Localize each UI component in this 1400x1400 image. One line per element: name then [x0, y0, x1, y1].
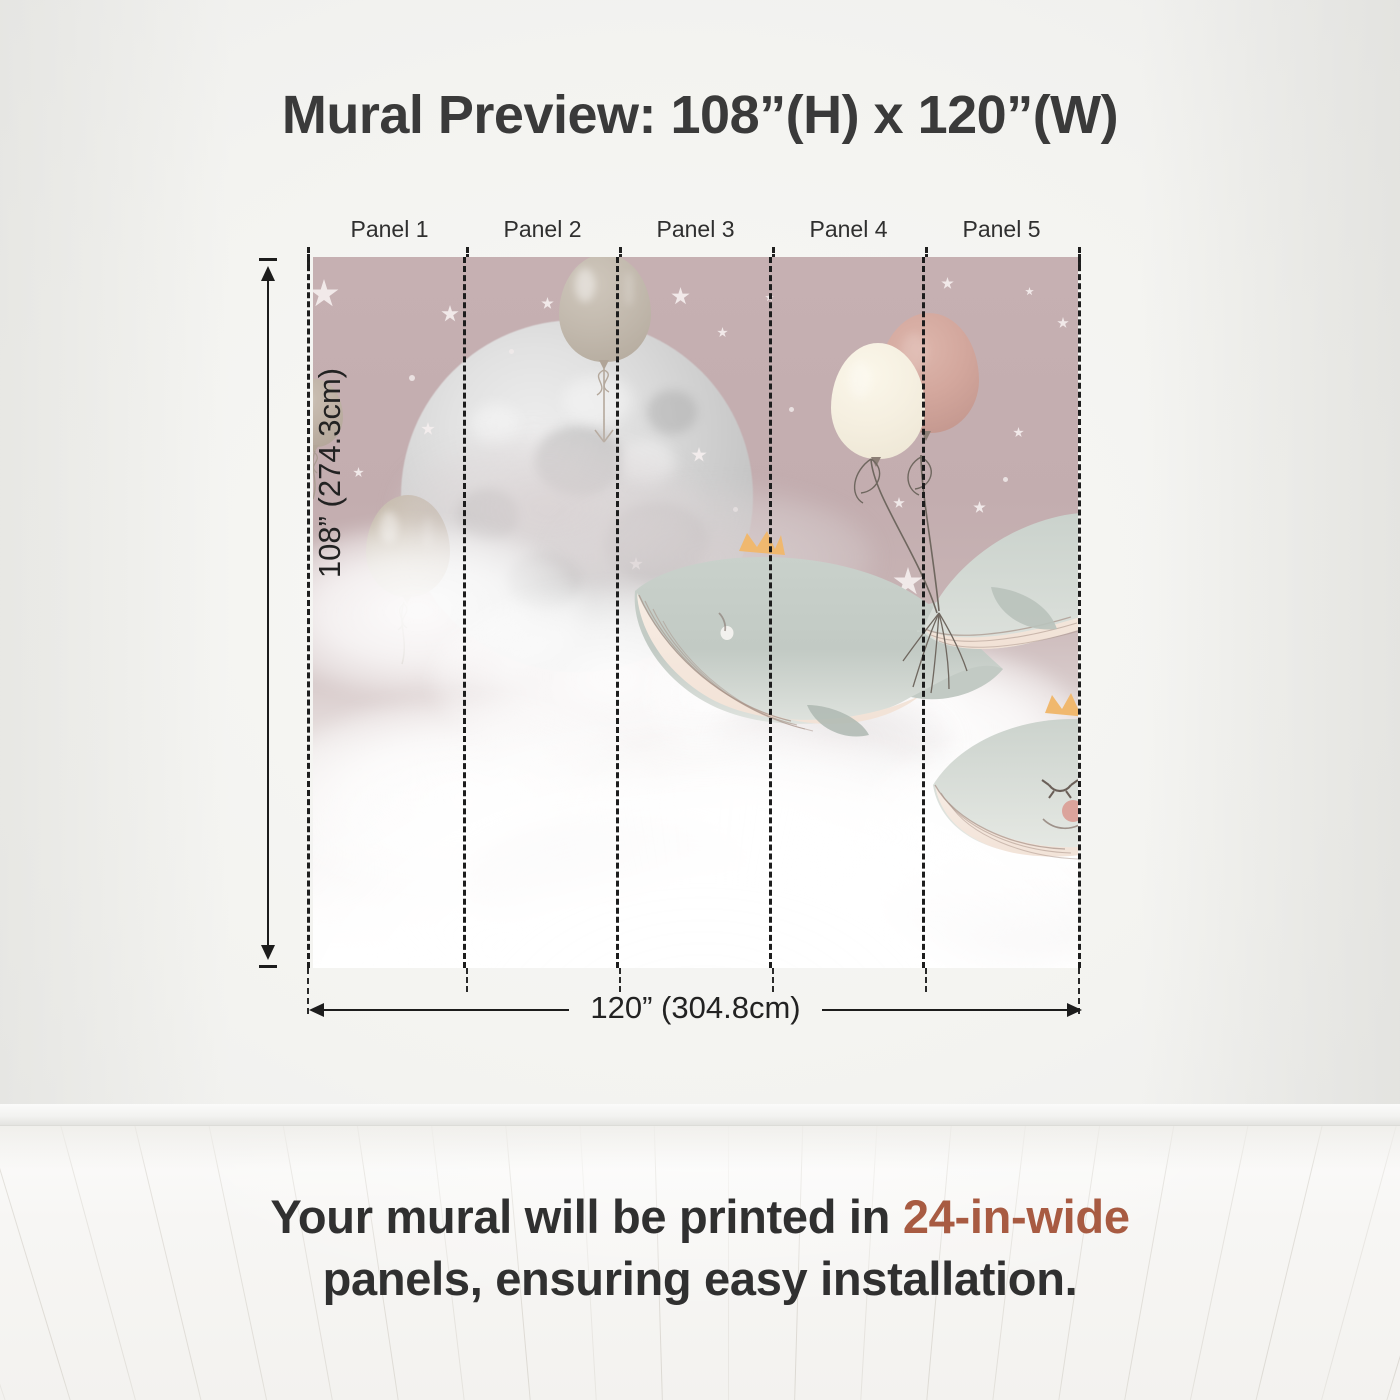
panel-divider-3: [769, 257, 772, 968]
wall-shadow-right: [1140, 0, 1400, 1122]
star-dot: [789, 407, 794, 412]
panel-label-5: Panel 5: [925, 213, 1078, 245]
panel-label-1: Panel 1: [313, 213, 466, 245]
panel-label-2: Panel 2: [466, 213, 619, 245]
width-dimension-label: 120” (304.8cm): [309, 990, 1082, 1026]
footer-caption: Your mural will be printed in 24-in-wide…: [0, 1186, 1400, 1310]
height-dimension-arrow: [258, 258, 278, 968]
star-dot: [509, 349, 514, 354]
footer-caption-accent: 24-in-wide: [903, 1190, 1130, 1243]
star-dot: [409, 375, 415, 381]
page-title: Mural Preview: 108”(H) x 120”(W): [0, 84, 1400, 146]
footer-caption-line-2: panels, ensuring easy installation.: [0, 1248, 1400, 1310]
guide-divider-4-extension: [925, 968, 927, 992]
panel-label-3: Panel 3: [619, 213, 772, 245]
width-dimension-text: 120” (304.8cm): [576, 990, 814, 1025]
star-dot: [733, 507, 738, 512]
footer-caption-text-before: Your mural will be printed in: [270, 1190, 903, 1243]
footer-caption-line-1: Your mural will be printed in 24-in-wide: [0, 1186, 1400, 1248]
panel-label-row: Panel 1 Panel 2 Panel 3 Panel 4 Panel 5: [313, 213, 1078, 245]
guide-divider-3-extension: [772, 968, 774, 992]
guide-divider-2-extension: [619, 968, 621, 992]
baseboard: [0, 1104, 1400, 1126]
wall-shadow-left: [0, 0, 230, 1122]
mural-preview-image[interactable]: [313, 257, 1078, 968]
panel-divider-1: [463, 257, 466, 968]
panel-label-4: Panel 4: [772, 213, 925, 245]
mural-right-edge-guide: [1078, 247, 1081, 968]
mural-left-edge-guide: [307, 247, 310, 968]
height-dimension-label: 108” (274.3cm): [312, 313, 348, 633]
guide-divider-1-extension: [466, 968, 468, 992]
panel-divider-2: [616, 257, 619, 968]
panel-divider-4: [922, 257, 925, 968]
